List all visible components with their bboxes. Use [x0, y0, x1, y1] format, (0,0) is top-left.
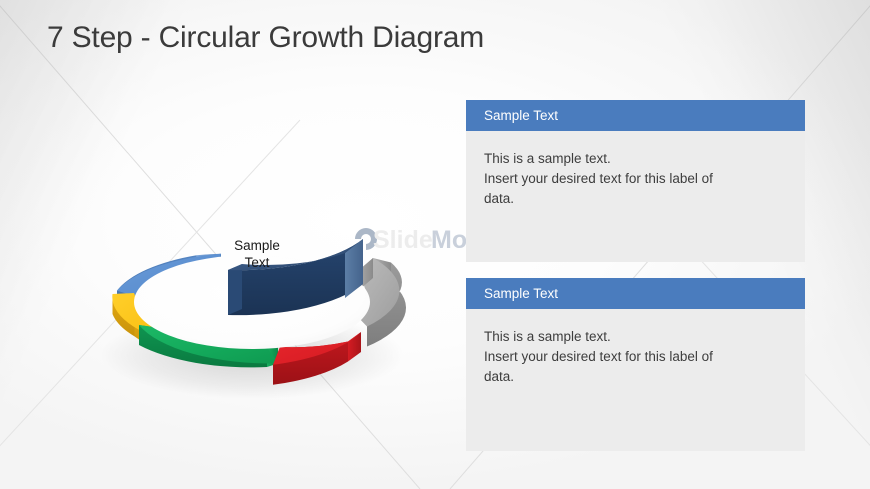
circular-growth-diagram: Sample Text — [82, 112, 432, 412]
card-2-header: Sample Text — [466, 278, 805, 309]
sample-text-card-1[interactable]: Sample Text This is a sample text. Inser… — [466, 100, 805, 262]
card-2-body-line1: This is a sample text. — [484, 327, 783, 347]
card-1-header: Sample Text — [466, 100, 805, 131]
card-1-body-line1: This is a sample text. — [484, 149, 783, 169]
card-1-body: This is a sample text. Insert your desir… — [466, 131, 805, 262]
card-1-body-line3: data. — [484, 189, 783, 209]
sample-text-card-2[interactable]: Sample Text This is a sample text. Inser… — [466, 278, 805, 451]
card-2-body: This is a sample text. Insert your desir… — [466, 309, 805, 451]
card-2-body-line2: Insert your desired text for this label … — [484, 347, 783, 367]
card-1-body-line2: Insert your desired text for this label … — [484, 169, 783, 189]
card-2-body-line3: data. — [484, 367, 783, 387]
page-title: 7 Step - Circular Growth Diagram — [47, 21, 484, 55]
segment-navy-end-left — [228, 264, 242, 315]
slide-canvas: 7 Step - Circular Growth Diagram — [0, 0, 870, 489]
